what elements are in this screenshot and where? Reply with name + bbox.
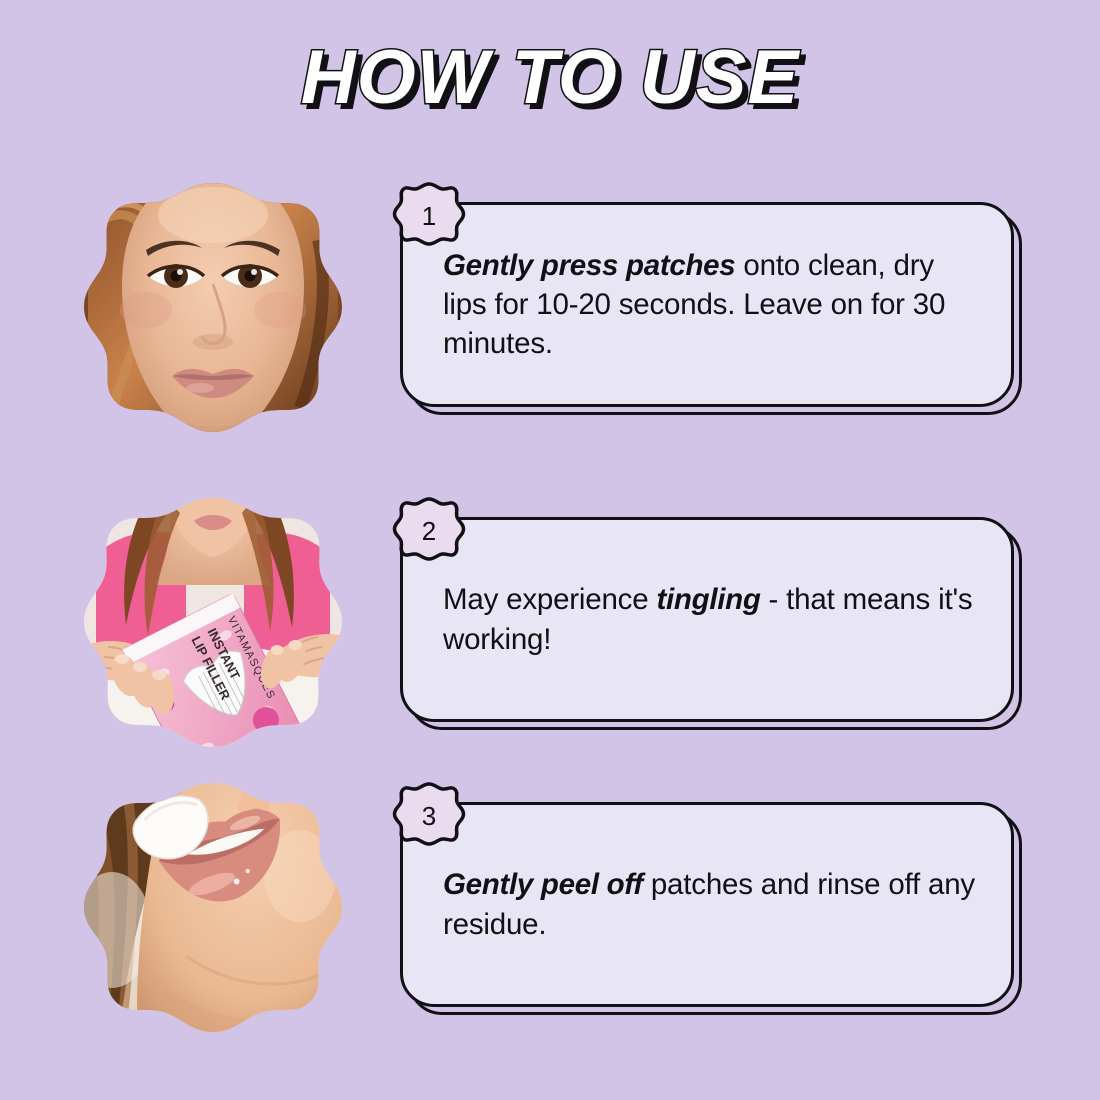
step-3-photo-content [68,780,358,1045]
step-1-badge: 1 [392,180,466,254]
step-1-lead: Gently press patches [443,249,735,282]
step-1-photo-content [68,180,358,445]
step-2-lead: tingling [656,583,760,616]
step-1-card-zone: Gently press patches onto clean, dry lip… [392,180,1052,445]
step-1-card: Gently press patches onto clean, dry lip… [400,202,1014,407]
step-3-lead: Gently peel off [443,868,643,901]
step-1-number: 1 [392,180,466,254]
step-2-text: May experience tingling - that means it'… [403,580,1011,658]
step-3-text: Gently peel off patches and rinse off an… [403,865,1011,943]
page-title: HOW TO USE [301,34,799,121]
page-title-container: HOW TO USE [0,32,1100,122]
step-row-2: VITAMASQUES INSTANT LIP FILLER [0,495,1100,755]
step-3-badge: 3 [392,780,466,854]
step-2-photo: VITAMASQUES INSTANT LIP FILLER [68,495,358,760]
step-2-number: 2 [392,495,466,569]
step-2-lead-pre: May experience [443,583,656,616]
step-2-photo-content: VITAMASQUES INSTANT LIP FILLER [68,495,358,760]
step-3-card: Gently peel off patches and rinse off an… [400,802,1014,1007]
step-1-photo [68,180,358,445]
step-3-number: 3 [392,780,466,854]
infographic-canvas: HOW TO USE [0,0,1100,1100]
step-2-card: May experience tingling - that means it'… [400,517,1014,722]
step-row-3: Gently peel off patches and rinse off an… [0,780,1100,1040]
step-3-card-zone: Gently peel off patches and rinse off an… [392,780,1052,1045]
step-1-text: Gently press patches onto clean, dry lip… [403,246,1011,364]
step-3-photo [68,780,358,1045]
step-2-badge: 2 [392,495,466,569]
step-2-card-zone: May experience tingling - that means it'… [392,495,1052,760]
step-row-1: Gently press patches onto clean, dry lip… [0,180,1100,440]
